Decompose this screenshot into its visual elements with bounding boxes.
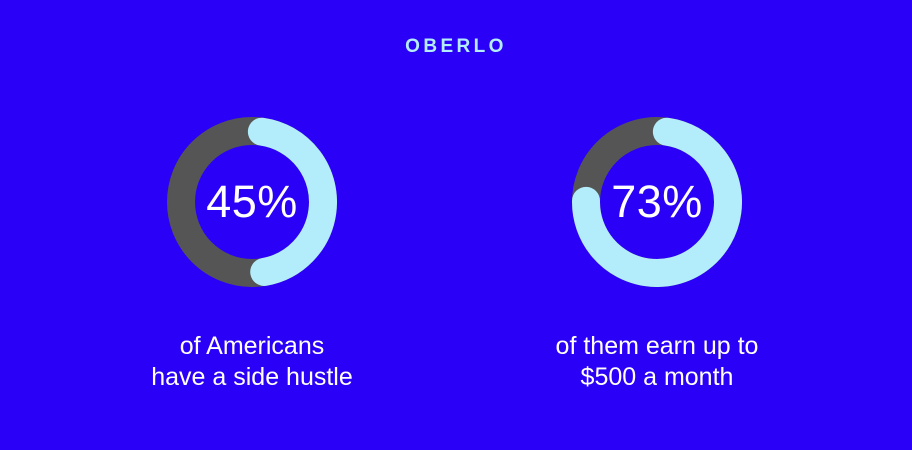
oberlo-logo: OBERLO xyxy=(0,37,912,56)
caption-line-2: $500 a month xyxy=(487,362,827,393)
caption-line-2: have a side hustle xyxy=(82,362,422,393)
caption-earnings: of them earn up to $500 a month xyxy=(487,331,827,393)
stat-block-side-hustle: 45% of Americans have a side hustle xyxy=(82,117,422,393)
donut-svg-73 xyxy=(572,117,742,287)
caption-line-1: of them earn up to xyxy=(487,331,827,362)
donut-chart-45: 45% xyxy=(167,117,337,287)
donut-svg-45 xyxy=(167,117,337,287)
caption-line-1: of Americans xyxy=(82,331,422,362)
stat-block-earnings: 73% of them earn up to $500 a month xyxy=(487,117,827,393)
caption-side-hustle: of Americans have a side hustle xyxy=(82,331,422,393)
donut-chart-73: 73% xyxy=(572,117,742,287)
infographic-canvas: OBERLO 45% of Americans have a side hust… xyxy=(0,0,912,450)
